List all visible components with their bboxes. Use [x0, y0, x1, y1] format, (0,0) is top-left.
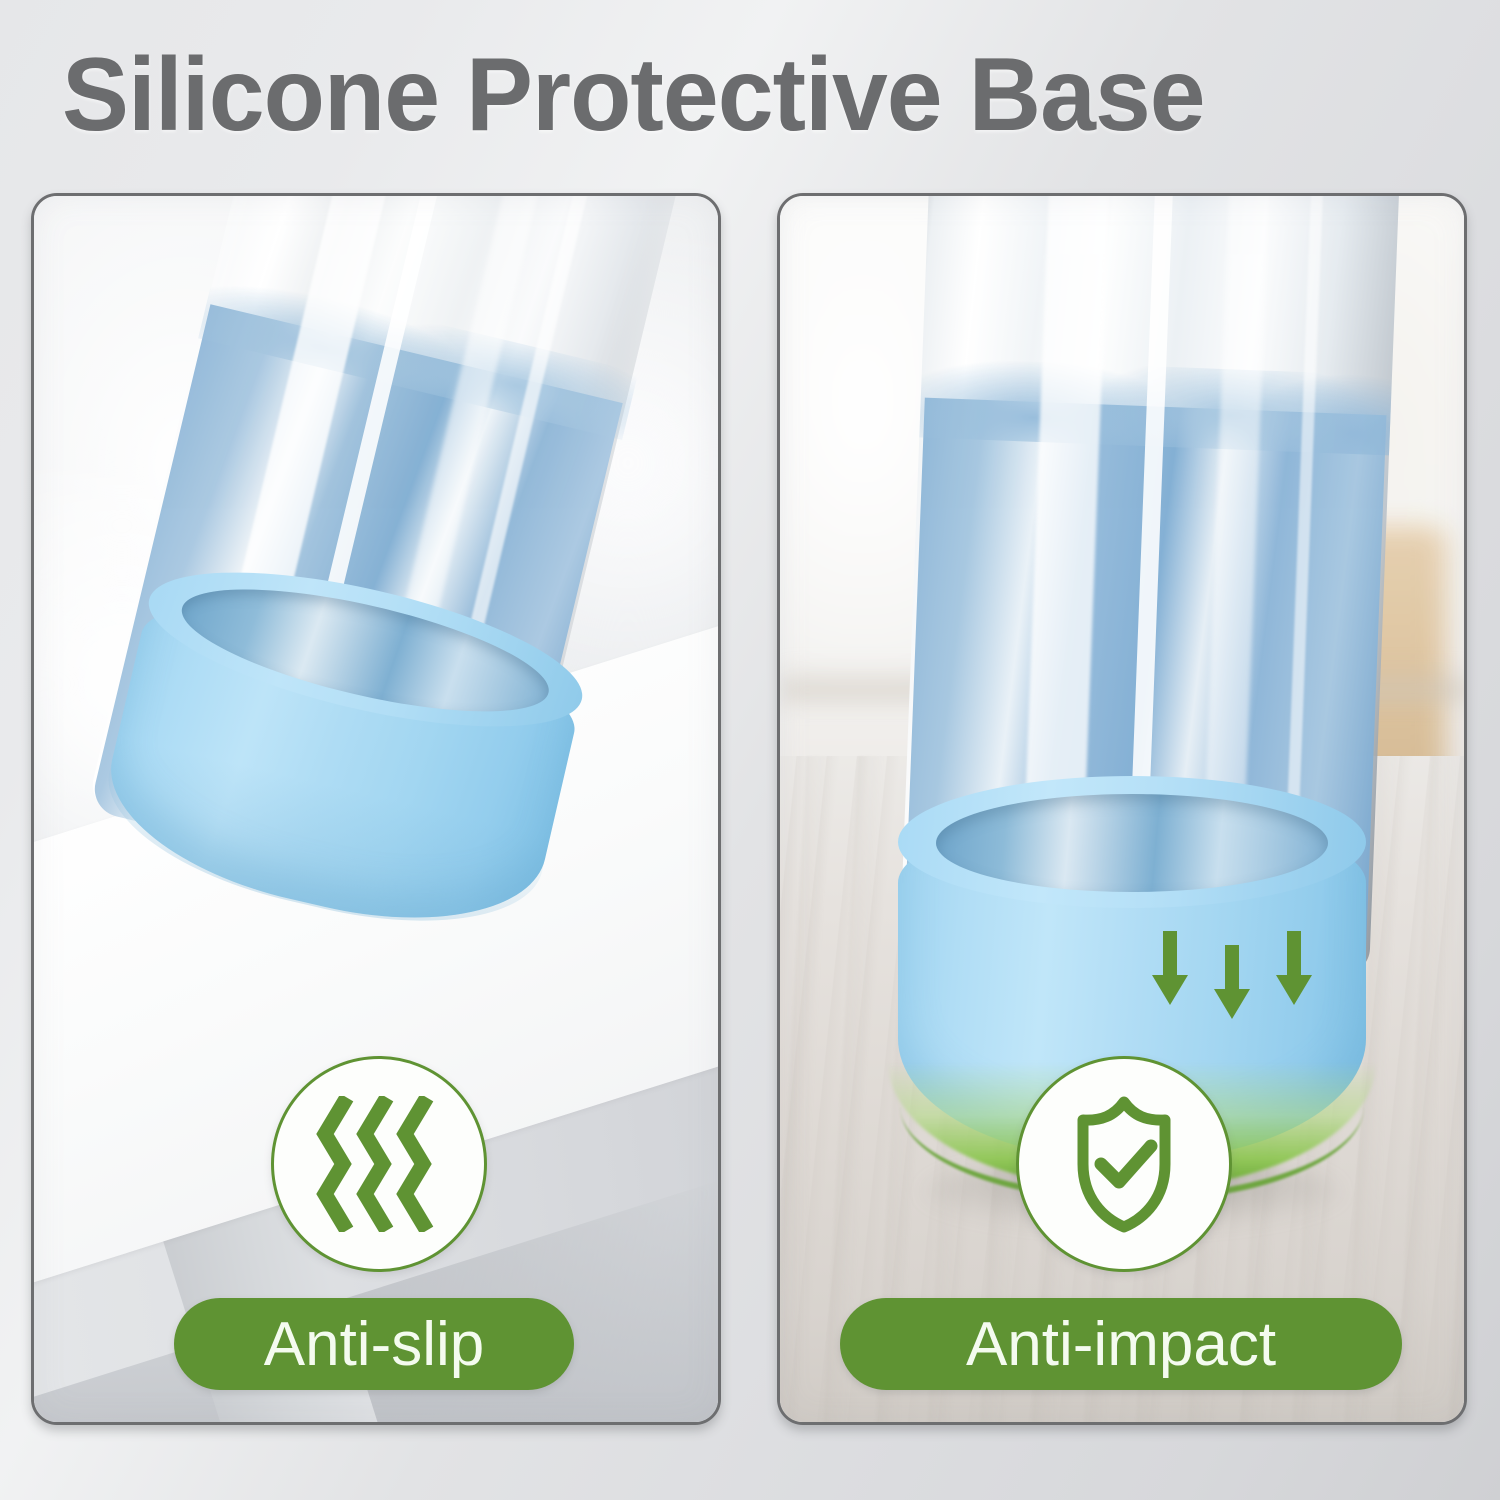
label-pill-anti-slip[interactable]: Anti-slip — [174, 1298, 574, 1390]
label-pill-anti-impact[interactable]: Anti-impact — [840, 1298, 1402, 1390]
panel-image-anti-slip: Anti-slip — [34, 196, 718, 1422]
panel-image-anti-impact: Anti-impact — [780, 196, 1464, 1422]
pill-label-text: Anti-impact — [966, 1309, 1276, 1380]
badge-anti-slip — [271, 1056, 487, 1272]
arrow-down-icon — [1150, 931, 1190, 1005]
zigzag-waves-icon — [313, 1096, 445, 1232]
arrow-down-icon — [1212, 945, 1252, 1019]
pill-label-text: Anti-slip — [264, 1309, 485, 1380]
arrow-down-icon — [1274, 931, 1314, 1005]
page-title: Silicone Protective Base — [62, 43, 1205, 147]
shield-check-icon — [1059, 1094, 1189, 1234]
silicone-sleeve-inner-cavity — [936, 794, 1328, 892]
badge-anti-impact — [1016, 1056, 1232, 1272]
page-header: Silicone Protective Base — [0, 0, 1500, 190]
feature-panel-anti-impact[interactable]: Anti-impact — [777, 193, 1467, 1425]
feature-panels: Anti-slip — [0, 193, 1500, 1433]
feature-panel-anti-slip[interactable]: Anti-slip — [31, 193, 721, 1425]
impact-arrows-group — [1150, 931, 1314, 1019]
